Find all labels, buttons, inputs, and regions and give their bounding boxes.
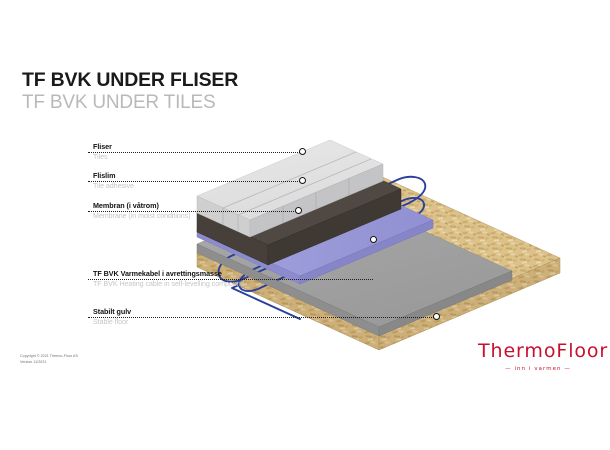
label-tile-adhesive: Flislim Tile adhesive [93, 172, 134, 190]
diagram-page: TF BVK UNDER FLISER TF BVK UNDER TILES [0, 0, 610, 450]
label-membrane: Membran (i våtrom) Membrane (in moist co… [93, 202, 190, 220]
logo-wordmark: ThermoFloor [478, 342, 598, 361]
marker-adhesive [299, 177, 306, 184]
copyright-line-2: Version 11/2021 [20, 359, 78, 365]
marker-heating-cable [370, 236, 377, 243]
label-membrane-no: Membran (i våtrom) [93, 202, 190, 210]
label-heating-cable-en: TF BVK Heating cable in self-levelling c… [93, 280, 244, 288]
thermofloor-logo: ThermoFloor — inn i varmen — [478, 342, 598, 372]
label-tiles: Fliser Tiles [93, 143, 112, 161]
logo-word-floor: Floor [556, 340, 608, 362]
leader-line-stable-floor [88, 317, 436, 318]
logo-word-thermo: Thermo [478, 340, 556, 362]
label-membrane-en: Membrane (in moist conditions) [93, 212, 190, 220]
marker-tiles [299, 148, 306, 155]
label-stable-floor: Stabilt gulv Stable floor [93, 308, 131, 326]
label-tile-adhesive-en: Tile adhesive [93, 182, 134, 190]
leader-line-tiles [88, 152, 302, 153]
marker-membrane [295, 207, 302, 214]
label-heating-cable: TF BVK Varmekabel i avrettingsmasse TF B… [93, 270, 244, 288]
label-tile-adhesive-no: Flislim [93, 172, 134, 180]
label-tiles-en: Tiles [93, 153, 112, 161]
label-heating-cable-no: TF BVK Varmekabel i avrettingsmasse [93, 270, 244, 278]
label-tiles-no: Fliser [93, 143, 112, 151]
label-stable-floor-en: Stable floor [93, 318, 131, 326]
copyright-block: Copyright © 2021 Thermo-Floor AS Version… [20, 353, 78, 366]
logo-tagline: — inn i varmen — [478, 366, 598, 372]
label-stable-floor-no: Stabilt gulv [93, 308, 131, 316]
marker-stable-floor [433, 313, 440, 320]
floor-buildup-illustration [0, 0, 610, 450]
